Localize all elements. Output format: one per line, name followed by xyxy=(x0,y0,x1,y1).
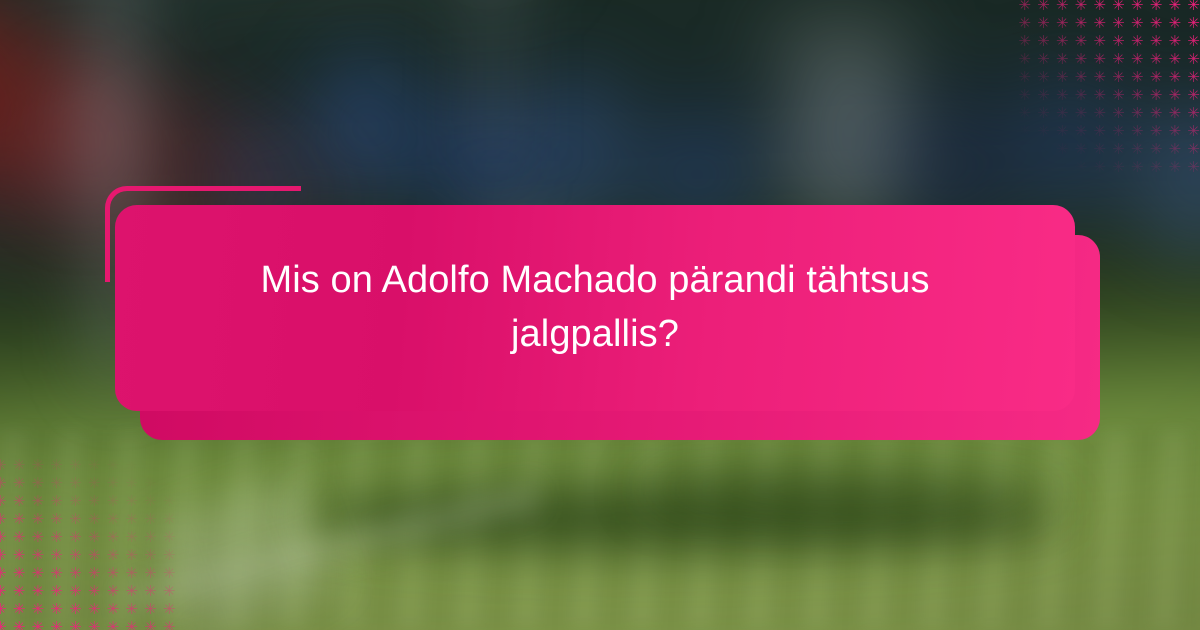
social-card-canvas: ✳✳✳✳✳✳✳✳✳✳ ✳✳✳✳✳✳✳✳✳✳ ✳✳✳✳✳✳✳✳✳✳ ✳✳✳✳✳✳✳… xyxy=(0,0,1200,630)
halftone-dots-top-right: ✳✳✳✳✳✳✳✳✳✳ ✳✳✳✳✳✳✳✳✳✳ ✳✳✳✳✳✳✳✳✳✳ ✳✳✳✳✳✳✳… xyxy=(1018,0,1200,176)
page-title: Mis on Adolfo Machado pärandi tähtsus ja… xyxy=(225,254,965,362)
halftone-dots-bottom-left: ✳✳✳✳✳✳✳✳✳✳ ✳✳✳✳✳✳✳✳✳✳ ✳✳✳✳✳✳✳✳✳✳ ✳✳✳✳✳✳✳… xyxy=(0,456,182,630)
headline-card: Mis on Adolfo Machado pärandi tähtsus ja… xyxy=(115,205,1075,411)
